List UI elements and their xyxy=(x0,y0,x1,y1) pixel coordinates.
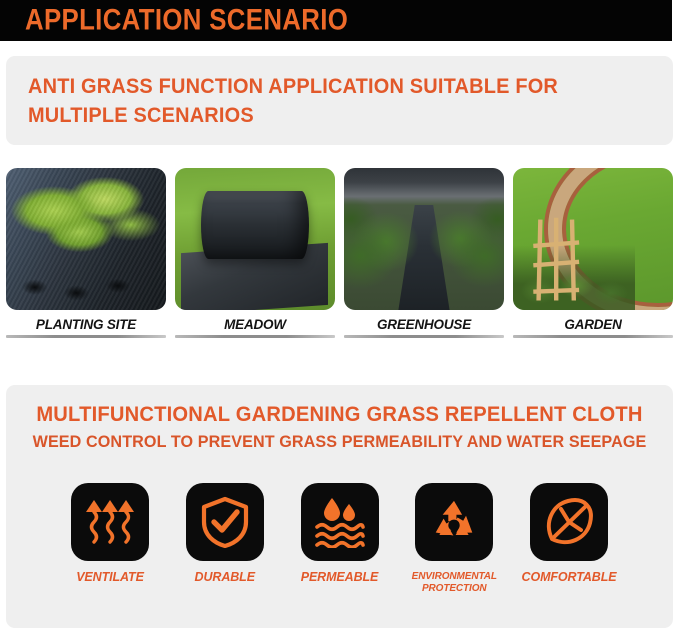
scenario-tile-garden[interactable]: GARDEN xyxy=(513,168,673,361)
feature-label: ENVIRONMENTAL PROTECTION xyxy=(406,571,502,594)
features-headline: MULTIFUNCTIONAL GARDENING GRASS REPELLEN… xyxy=(19,403,659,427)
recycle-icon xyxy=(415,483,493,561)
scenario-caption: GARDEN xyxy=(513,317,673,332)
scenario-tile-meadow[interactable]: MEADOW xyxy=(175,168,335,361)
garden-path-photo xyxy=(513,168,673,310)
airflow-arrows-icon xyxy=(71,483,149,561)
feature-durable[interactable]: DURABLE xyxy=(171,483,279,594)
feature-label: VENTILATE xyxy=(76,571,144,584)
feature-label: PERMEABLE xyxy=(301,571,379,584)
feature-icon-row: VENTILATE DURABLE xyxy=(56,483,623,594)
feature-label: COMFORTABLE xyxy=(522,571,617,584)
greenhouse-nursery-photo xyxy=(344,168,504,310)
water-drops-waves-icon xyxy=(301,483,379,561)
scenario-caption: PLANTING SITE xyxy=(6,317,166,332)
header-bar: APPLICATION SCENARIO xyxy=(0,0,672,41)
features-panel: MULTIFUNCTIONAL GARDENING GRASS REPELLEN… xyxy=(6,385,673,628)
scenario-tile-row: PLANTING SITE MEADOW GREENHOUSE xyxy=(6,168,673,361)
page-title: APPLICATION SCENARIO xyxy=(25,3,348,37)
feature-environmental-protection[interactable]: ENVIRONMENTAL PROTECTION xyxy=(400,483,508,594)
feature-label: DURABLE xyxy=(195,571,255,584)
meadow-fabric-roll-photo xyxy=(175,168,335,310)
scenario-caption: GREENHOUSE xyxy=(344,317,504,332)
scenario-tile-greenhouse[interactable]: GREENHOUSE xyxy=(344,168,504,361)
scenario-tile-planting-site[interactable]: PLANTING SITE xyxy=(6,168,166,361)
features-subhead: WEED CONTROL TO PREVENT GRASS PERMEABILI… xyxy=(23,432,657,452)
leaf-icon xyxy=(530,483,608,561)
planting-site-photo xyxy=(6,168,166,310)
subtitle-panel: ANTI GRASS FUNCTION APPLICATION SUITABLE… xyxy=(6,56,673,145)
caption-underline xyxy=(513,335,673,338)
wooden-trellis-icon xyxy=(529,216,583,304)
caption-underline xyxy=(6,335,166,338)
feature-comfortable[interactable]: COMFORTABLE xyxy=(515,483,623,594)
caption-underline xyxy=(344,335,504,338)
feature-permeable[interactable]: PERMEABLE xyxy=(286,483,394,594)
shield-check-icon xyxy=(186,483,264,561)
scenario-caption: MEADOW xyxy=(175,317,335,332)
subtitle-text: ANTI GRASS FUNCTION APPLICATION SUITABLE… xyxy=(28,72,598,130)
caption-underline xyxy=(175,335,335,338)
feature-ventilate[interactable]: VENTILATE xyxy=(56,483,164,594)
